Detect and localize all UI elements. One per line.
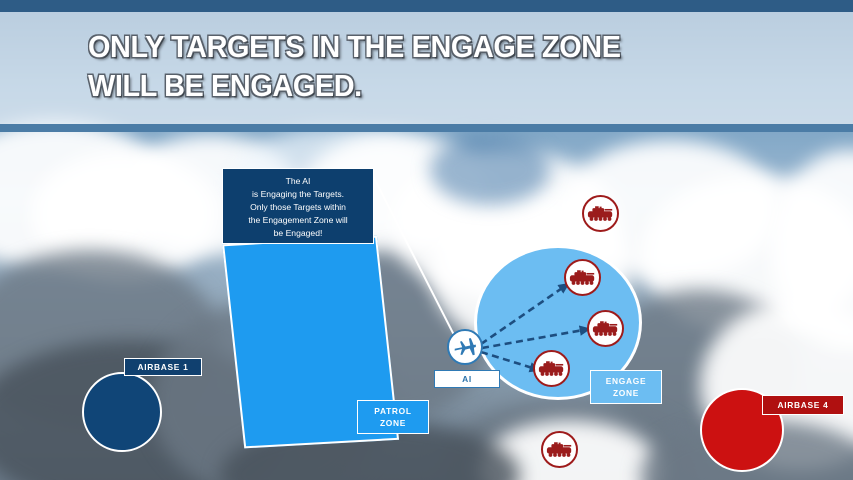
airbase-1-label: AIRBASE 1 — [124, 358, 202, 376]
fighter-jet-icon — [452, 334, 478, 360]
armored-vehicle-icon — [546, 440, 573, 460]
slide-canvas: ONLY TARGETS IN THE ENGAGE ZONE WILL BE … — [0, 0, 853, 480]
armored-vehicle-icon — [592, 319, 619, 339]
target-4-marker[interactable] — [582, 195, 619, 232]
target-1-marker[interactable] — [564, 259, 601, 296]
engage-zone-label: ENGAGE ZONE — [590, 370, 662, 404]
armored-vehicle-icon — [587, 204, 614, 224]
ai-unit-label: AI — [434, 370, 500, 388]
patrol-zone-label: PATROL ZONE — [357, 400, 429, 434]
ai-aircraft-marker[interactable] — [447, 329, 483, 365]
target-3-marker[interactable] — [533, 350, 570, 387]
target-2-marker[interactable] — [587, 310, 624, 347]
airbase-4-label: AIRBASE 4 — [762, 395, 844, 415]
target-5-marker[interactable] — [541, 431, 578, 468]
armored-vehicle-icon — [569, 268, 596, 288]
armored-vehicle-icon — [538, 359, 565, 379]
